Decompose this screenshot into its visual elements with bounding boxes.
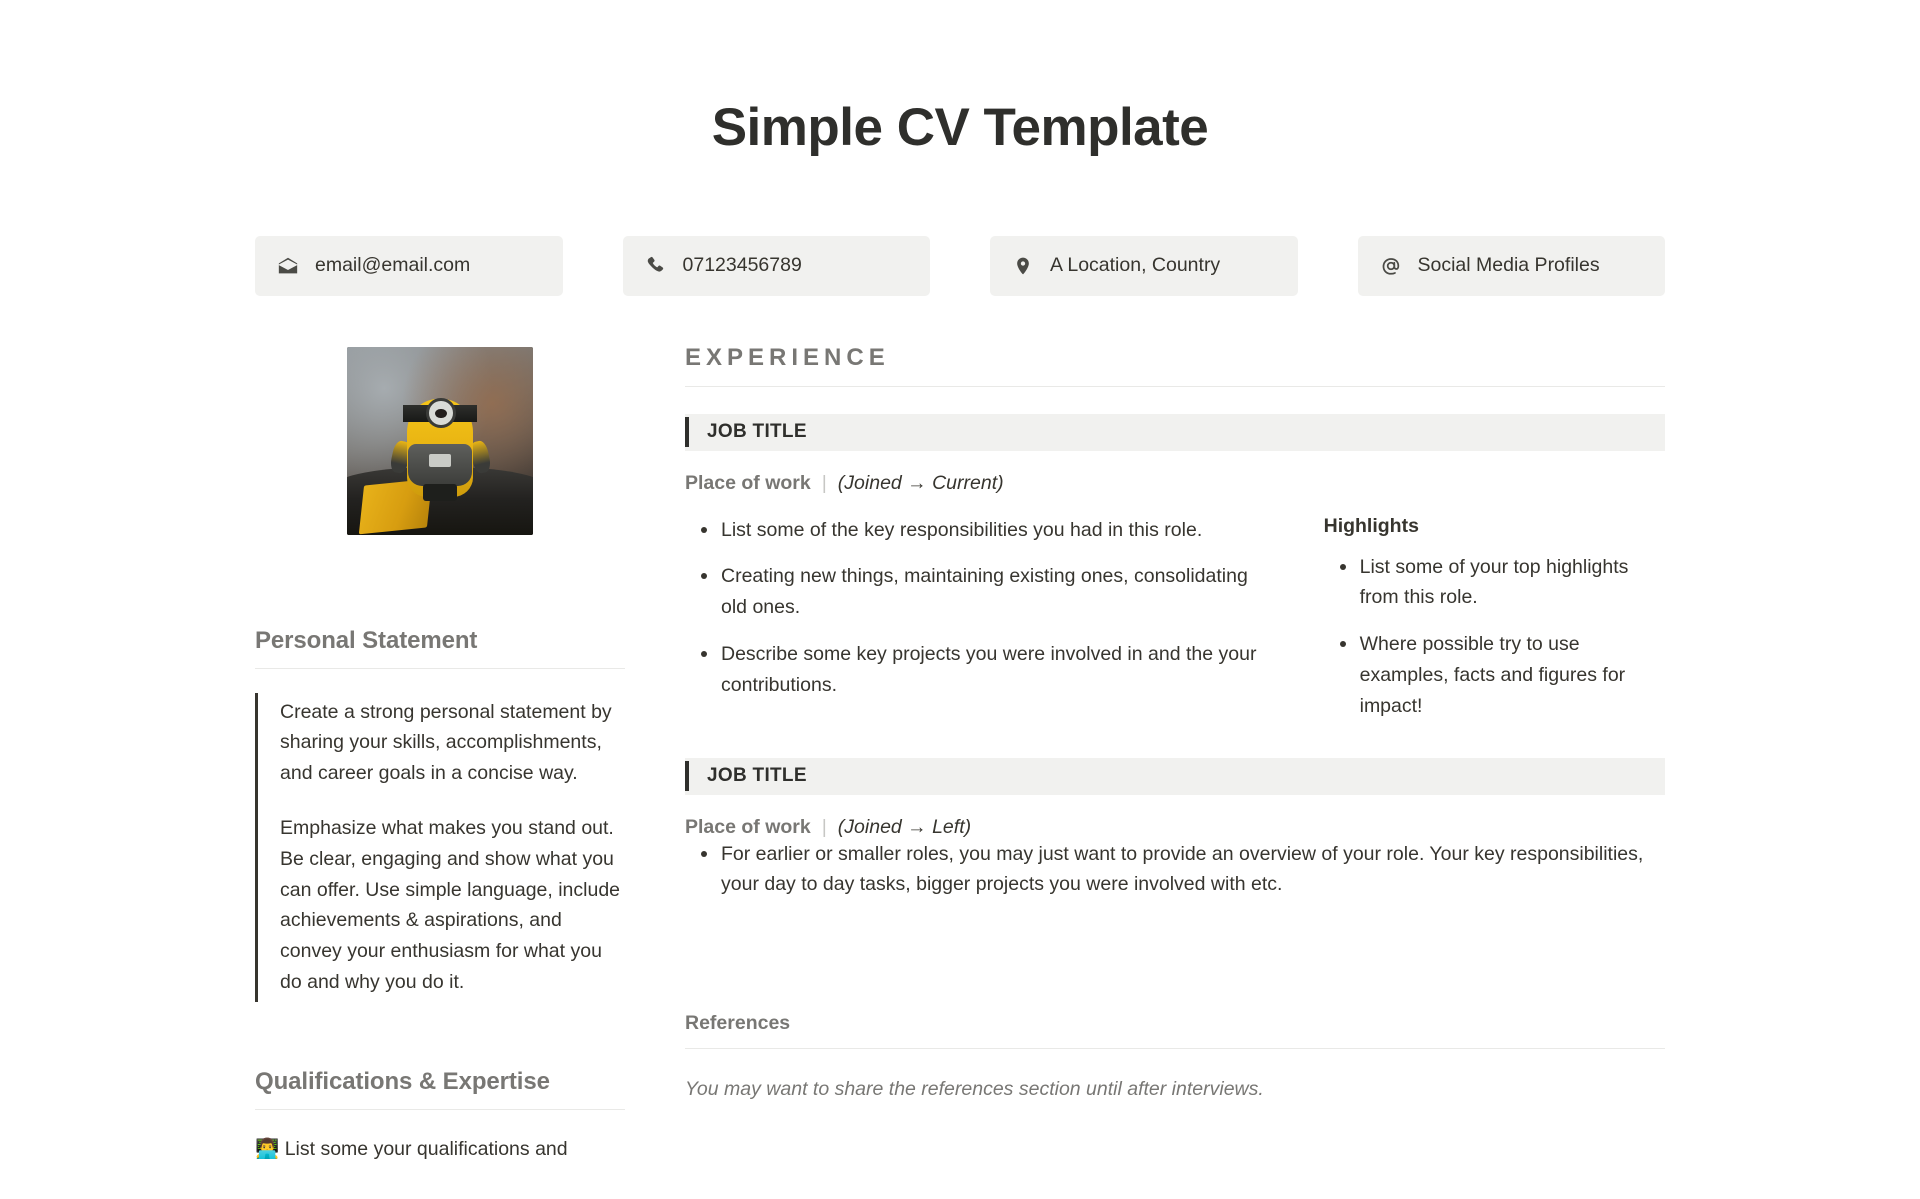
experience-heading: EXPERIENCE [685,344,1665,386]
job-title-bar: JOB TITLE [685,414,1665,451]
list-item: Creating new things, maintaining existin… [707,561,1262,623]
highlights-column: Highlights List some of your top highlig… [1324,515,1665,722]
job-meta: Place of work | (Joined → Left) [685,816,1665,839]
references-heading: References [685,1012,1665,1048]
personal-statement-quote: Create a strong personal statement by sh… [255,693,625,1002]
profile-photo [347,347,533,535]
personal-statement-paragraph: Create a strong personal statement by sh… [280,697,625,789]
list-item: Where possible try to use examples, fact… [1346,629,1665,721]
contact-chip-label: email@email.com [315,254,470,277]
responsibilities-column: List some of the key responsibilities yo… [685,515,1262,722]
job-dates: (Joined → Left) [838,816,971,839]
contact-chip-location[interactable]: A Location, Country [990,236,1298,296]
job-title: JOB TITLE [689,765,807,787]
list-item: For earlier or smaller roles, you may ju… [707,839,1665,901]
contact-chip-label: 07123456789 [683,254,802,277]
sidebar-column: Personal Statement Create a strong perso… [255,344,685,1165]
responsibilities-list: For earlier or smaller roles, you may ju… [685,839,1665,901]
contact-chip-social[interactable]: Social Media Profiles [1358,236,1666,296]
job-separator: | [811,816,838,839]
highlights-title: Highlights [1324,515,1665,538]
experience-entry: JOB TITLE Place of work | (Joined → Left… [685,758,1665,901]
contact-chip-email[interactable]: email@email.com [255,236,563,296]
contact-chip-label: A Location, Country [1050,254,1220,277]
qualifications-line-text: List some your qualifications and [285,1138,568,1160]
divider [255,668,625,669]
references-section: References You may want to share the ref… [685,1012,1665,1104]
personal-statement-paragraph: Emphasize what makes you stand out. Be c… [280,813,625,998]
envelope-icon [277,255,299,277]
contact-row: email@email.com 07123456789 A Location, … [0,160,1920,296]
divider [685,386,1665,387]
divider [255,1109,625,1110]
list-item: Describe some key projects you were invo… [707,639,1262,701]
body-columns: Personal Statement Create a strong perso… [0,296,1920,1165]
profile-photo-wrapper [255,344,625,535]
job-title: JOB TITLE [689,421,807,443]
qualifications-heading: Qualifications & Expertise [255,1068,625,1109]
job-meta: Place of work | (Joined → Current) [685,472,1665,495]
responsibilities-list: List some of the key responsibilities yo… [685,515,1262,701]
references-note: You may want to share the references sec… [685,1075,1665,1104]
list-item: List some of your top highlights from th… [1346,552,1665,614]
page-title: Simple CV Template [0,0,1920,160]
job-place: Place of work [685,816,811,839]
job-title-bar: JOB TITLE [685,758,1665,795]
job-detail-grid: List some of the key responsibilities yo… [685,515,1665,722]
personal-statement-heading: Personal Statement [255,627,625,668]
contact-chip-phone[interactable]: 07123456789 [623,236,931,296]
job-separator: | [811,472,838,495]
location-pin-icon [1012,255,1034,277]
technologist-emoji-icon: 👨‍💻 [255,1137,279,1160]
list-item: List some of the key responsibilities yo… [707,515,1262,546]
contact-chip-label: Social Media Profiles [1418,254,1600,277]
highlights-list: List some of your top highlights from th… [1324,552,1665,722]
experience-column: EXPERIENCE JOB TITLE Place of work | (Jo… [685,344,1665,1165]
experience-entry: JOB TITLE Place of work | (Joined → Curr… [685,414,1665,722]
qualifications-first-line: 👨‍💻 List some your qualifications and [255,1134,625,1165]
job-dates: (Joined → Current) [838,472,1004,495]
cv-page: Simple CV Template email@email.com 07123… [0,0,1920,1165]
at-sign-icon [1380,255,1402,277]
job-place: Place of work [685,472,811,495]
divider [685,1048,1665,1049]
phone-icon [645,255,667,277]
